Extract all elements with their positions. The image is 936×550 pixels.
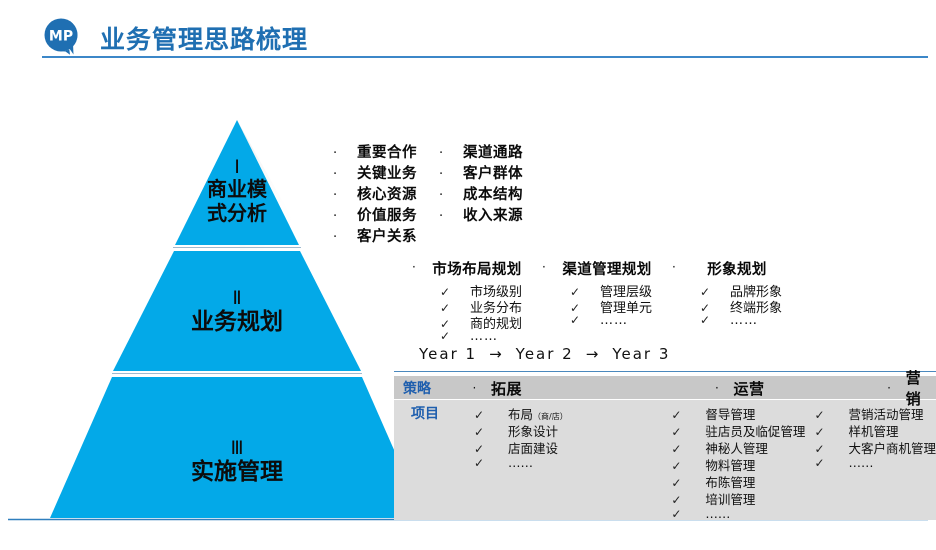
list-item: ✓ …… xyxy=(814,455,936,472)
check-icon: ✓ xyxy=(474,456,508,470)
tier-1-item-label: 成本结构 xyxy=(463,183,523,204)
list-item: ✓ 培训管理 xyxy=(671,489,814,506)
tier-1-item-label: 重要合作 xyxy=(357,141,417,162)
bullet-icon: · xyxy=(333,207,357,226)
list-item: ✓ 驻店员及临促管理 xyxy=(671,421,814,438)
list-item: · 客户群体 xyxy=(439,162,523,181)
pyramid-tier-3-caption: Ⅲ 实施管理 xyxy=(177,437,297,487)
bullet-icon: · xyxy=(333,165,357,184)
list-item: ✓ 店面建设 xyxy=(474,438,671,455)
list-item: ✓ 样机管理 xyxy=(814,421,936,438)
list-item: ✓ 督导管理 xyxy=(671,404,814,421)
tier-2-group-title: 形象规划 xyxy=(692,258,782,279)
tier-3-header-row: 策略 · 拓展 · 运营 · 营销 xyxy=(403,379,936,397)
bullet-icon: · xyxy=(542,258,562,274)
check-icon: ✓ xyxy=(814,442,848,456)
check-icon: ✓ xyxy=(814,425,848,439)
year-timeline: Year 1 → Year 2 → Year 3 xyxy=(419,345,670,363)
tier-1-label-line1: 商业模 xyxy=(177,178,297,202)
arrow-right-icon: → xyxy=(586,345,601,363)
tier-3-columns: ✓ 布局 （商/店） ✓ 形象设计 ✓ 店面建设 ✓ …… ✓ 督导管理 xyxy=(394,404,936,523)
list-item: ✓ …… xyxy=(440,329,522,345)
bullet-icon: · xyxy=(458,381,491,395)
list-item: ✓ 神秘人管理 xyxy=(671,438,814,455)
check-icon: ✓ xyxy=(474,408,508,422)
tier-1-item-label: 收入来源 xyxy=(463,204,523,225)
list-item: ✓ 市场级别 xyxy=(440,281,522,297)
list-item: ✓ …… xyxy=(700,313,782,329)
bullet-icon: · xyxy=(333,228,357,247)
check-icon: ✓ xyxy=(671,408,705,422)
bullet-icon: · xyxy=(672,258,692,274)
tier-3-panel-header-divider xyxy=(394,399,936,400)
tier-3-roman: Ⅲ xyxy=(177,437,297,459)
bullet-icon: · xyxy=(439,144,463,163)
bullet-icon: · xyxy=(439,207,463,226)
tier-2-item-label: …… xyxy=(730,313,758,328)
list-item: ✓ 营销活动管理 xyxy=(814,404,936,421)
strategy-label: 策略 xyxy=(403,378,458,398)
tier-1-item-label: 客户群体 xyxy=(463,162,523,183)
bullet-icon: · xyxy=(333,144,357,163)
tier-1-item-label: 关键业务 xyxy=(357,162,417,183)
pyramid-tier-1-caption: Ⅰ 商业模 式分析 xyxy=(177,156,297,226)
list-item: · 渠道通路 xyxy=(439,141,523,160)
check-icon: ✓ xyxy=(671,493,705,507)
tier-2-group-market: · 市场布局规划 ✓ 市场级别 ✓ 业务分布 ✓ 商的规划 ✓ …… xyxy=(412,258,522,345)
bullet-icon: · xyxy=(439,186,463,205)
tier-1-column-2: · 渠道通路 · 客户群体 · 成本结构 · 收入来源 xyxy=(439,141,523,244)
list-item: · 核心资源 xyxy=(333,183,417,202)
check-icon: ✓ xyxy=(814,408,848,422)
check-icon: ✓ xyxy=(671,425,705,439)
list-item: · 重要合作 xyxy=(333,141,417,160)
pyramid-tier-2-caption: Ⅱ 业务规划 xyxy=(177,287,297,337)
slide-canvas: MP 业务管理思路梳理 Ⅰ 商业模 式分析 Ⅱ 业务规划 xyxy=(0,0,936,550)
tier-1-label-line2: 式分析 xyxy=(177,202,297,226)
check-icon: ✓ xyxy=(570,313,600,327)
check-icon: ✓ xyxy=(671,476,705,490)
tier-1-column-1: · 重要合作 · 关键业务 · 核心资源 · 价值服务 · 客户关系 xyxy=(333,141,417,244)
check-icon: ✓ xyxy=(474,425,508,439)
list-item: ✓ 布陈管理 xyxy=(671,472,814,489)
check-icon: ✓ xyxy=(474,442,508,456)
tier-3-label: 实施管理 xyxy=(177,459,297,486)
list-item: ✓ 形象设计 xyxy=(474,421,671,438)
timeline-step: Year 2 xyxy=(516,345,574,363)
list-item: ✓ …… xyxy=(671,506,814,523)
tier-3-item-label: …… xyxy=(508,455,533,470)
list-item: ✓ …… xyxy=(570,313,652,329)
tier-2-group-title: 渠道管理规划 xyxy=(562,258,652,279)
list-item: ✓ 物料管理 xyxy=(671,455,814,472)
list-item: ✓ 商的规划 xyxy=(440,313,522,329)
list-item: · 成本结构 xyxy=(439,183,523,202)
tier-2-groups: · 市场布局规划 ✓ 市场级别 ✓ 业务分布 ✓ 商的规划 ✓ …… xyxy=(412,258,782,345)
list-item: · 关键业务 xyxy=(333,162,417,181)
tier-3-column-header: 运营 xyxy=(734,378,873,399)
check-icon: ✓ xyxy=(700,313,730,327)
timeline-divider xyxy=(394,371,936,372)
tier-2-label: 业务规划 xyxy=(177,309,297,336)
list-item: · 价值服务 xyxy=(333,204,417,223)
check-icon: ✓ xyxy=(671,459,705,473)
list-item: ✓ 管理单元 xyxy=(570,297,652,313)
list-item: · 客户关系 xyxy=(333,225,417,244)
list-item: ✓ …… xyxy=(474,455,671,472)
list-item: ✓ 业务分布 xyxy=(440,297,522,313)
tier-2-item-label: …… xyxy=(470,329,498,344)
timeline-step: Year 1 xyxy=(419,345,477,363)
tier-2-group-channel: · 渠道管理规划 ✓ 管理层级 ✓ 管理单元 ✓ …… xyxy=(542,258,652,345)
tier-3-item-label: …… xyxy=(848,455,873,470)
check-icon: ✓ xyxy=(671,442,705,456)
tier-1-item-label: 客户关系 xyxy=(357,225,417,246)
tier-3-column-marketing: ✓ 营销活动管理 ✓ 样机管理 ✓ 大客户商机管理 ✓ …… xyxy=(814,404,936,523)
tier-1-roman: Ⅰ xyxy=(177,156,297,178)
list-item: ✓ 终端形象 xyxy=(700,297,782,313)
list-item: ✓ 布局 （商/店） xyxy=(474,404,671,421)
bullet-icon: · xyxy=(700,381,733,395)
tier-3-column-header: 拓展 xyxy=(491,378,700,399)
bullet-icon: · xyxy=(872,381,905,395)
tier-1-item-label: 核心资源 xyxy=(357,183,417,204)
tier-3-column-expansion: ✓ 布局 （商/店） ✓ 形象设计 ✓ 店面建设 ✓ …… xyxy=(474,404,671,523)
tier-1-item-label: 渠道通路 xyxy=(463,141,523,162)
tier-2-item-label: …… xyxy=(600,313,628,328)
check-icon: ✓ xyxy=(671,507,705,521)
check-icon: ✓ xyxy=(440,329,470,343)
tier-1-item-label: 价值服务 xyxy=(357,204,417,225)
bullet-icon: · xyxy=(412,258,432,274)
arrow-right-icon: → xyxy=(489,345,504,363)
bullet-icon: · xyxy=(439,165,463,184)
bullet-icon: · xyxy=(333,186,357,205)
tier-2-group-title: 市场布局规划 xyxy=(432,258,522,279)
tier-3-column-operations: ✓ 督导管理 ✓ 驻店员及临促管理 ✓ 神秘人管理 ✓ 物料管理 ✓ 布陈管理 … xyxy=(671,404,814,523)
list-item: ✓ 品牌形象 xyxy=(700,281,782,297)
timeline-step: Year 3 xyxy=(612,345,670,363)
list-item: · 收入来源 xyxy=(439,204,523,223)
tier-2-roman: Ⅱ xyxy=(177,287,297,309)
tier-2-group-image: · 形象规划 ✓ 品牌形象 ✓ 终端形象 ✓ …… xyxy=(672,258,782,345)
check-icon: ✓ xyxy=(814,456,848,470)
tier-3-item-label: …… xyxy=(705,506,730,521)
tier-3-column-header: 营销 xyxy=(906,367,936,409)
list-item: ✓ 管理层级 xyxy=(570,281,652,297)
tier-1-bullet-lists: · 重要合作 · 关键业务 · 核心资源 · 价值服务 · 客户关系 · xyxy=(333,141,523,244)
list-item: ✓ 大客户商机管理 xyxy=(814,438,936,455)
